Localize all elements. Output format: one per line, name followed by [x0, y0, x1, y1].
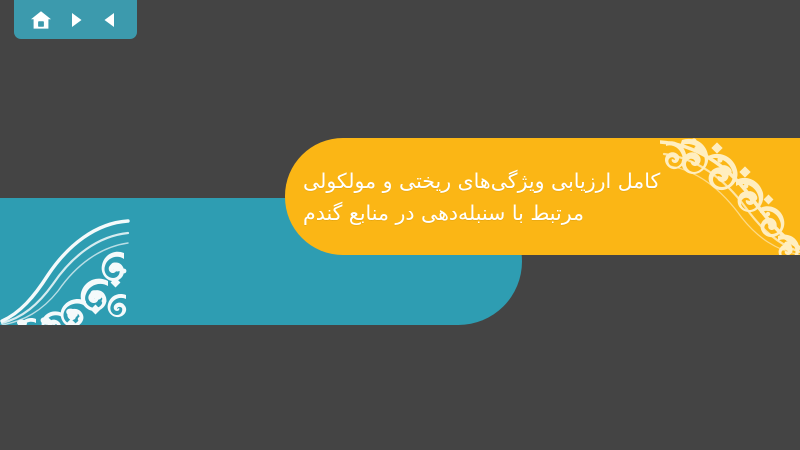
navigation-bar: [14, 0, 137, 39]
presentation-slide: کامل ارزیابی ویژگی‌های ریختی و مولکولی م…: [0, 0, 800, 450]
teal-arabesque-ornament: [0, 209, 130, 325]
previous-slide-button[interactable]: [95, 5, 125, 35]
home-icon: [30, 10, 52, 30]
title-line-2: مرتبط با سنبله‌دهی در منابع گندم: [303, 198, 584, 228]
next-slide-button[interactable]: [61, 5, 91, 35]
slide-title: کامل ارزیابی ویژگی‌های ریختی و مولکولی م…: [303, 138, 772, 255]
triangle-left-icon: [101, 11, 119, 29]
home-button[interactable]: [26, 5, 56, 35]
orange-title-banner: کامل ارزیابی ویژگی‌های ریختی و مولکولی م…: [285, 138, 800, 255]
triangle-right-icon: [67, 11, 85, 29]
title-line-1: کامل ارزیابی ویژگی‌های ریختی و مولکولی: [303, 166, 660, 196]
